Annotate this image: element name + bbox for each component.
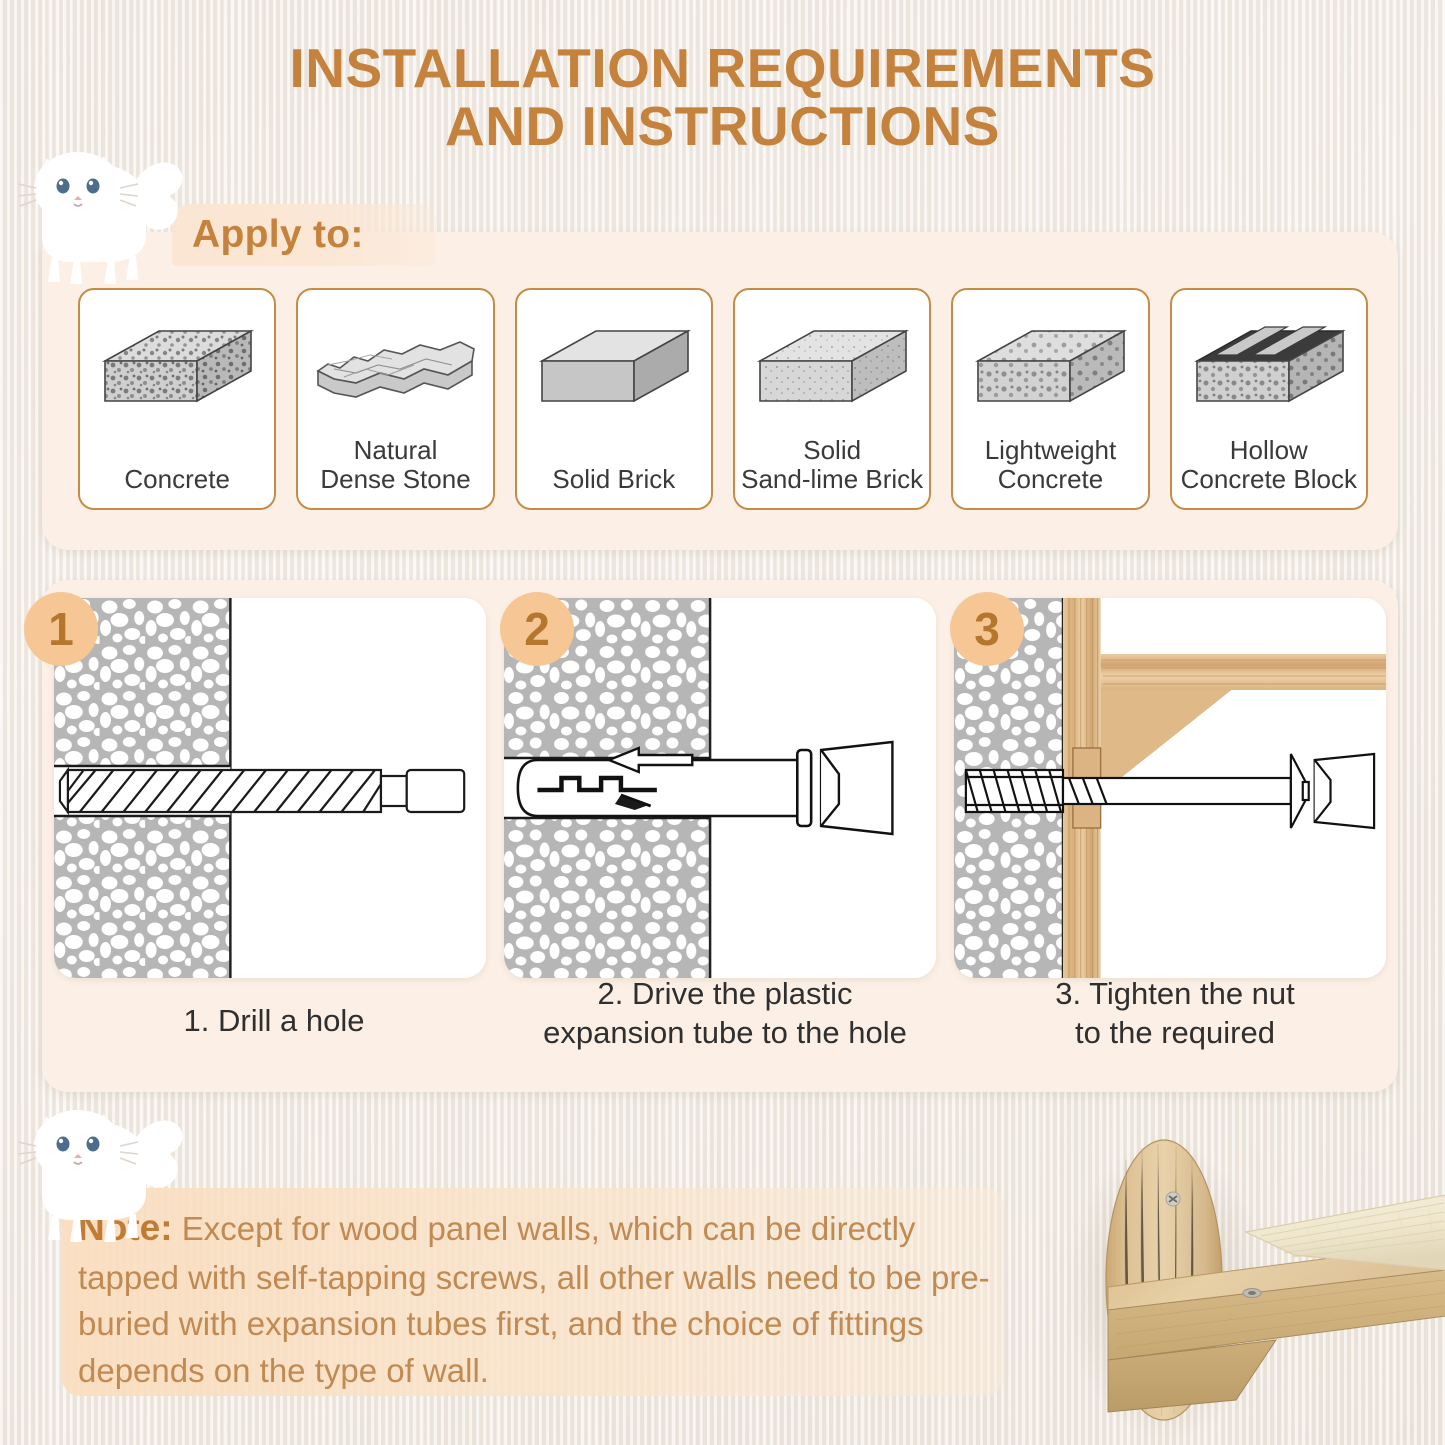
plastic-expansion-tube-icon [504, 598, 936, 978]
material-label: Concrete [84, 465, 270, 494]
wooden-wall-shelf-photo [1046, 1120, 1445, 1445]
lightweight-concrete-icon [953, 304, 1147, 424]
step-badge-1: 1 [24, 592, 98, 666]
step-caption-2: 2. Drive the plastic expansion tube to t… [470, 975, 980, 1053]
step-card-1[interactable] [54, 598, 486, 978]
step-badge-number: 2 [524, 602, 550, 656]
step-badge-2: 2 [500, 592, 574, 666]
page-title-line-2: AND INSTRUCTIONS [0, 98, 1445, 156]
white-cat-mascot-icon [12, 1098, 194, 1246]
material-label: Hollow Concrete Block [1176, 436, 1362, 494]
step-badge-number: 1 [48, 602, 74, 656]
material-card-list: Concrete Natural Dense Stone Solid Brick [78, 288, 1368, 510]
step-card-list [54, 598, 1386, 978]
step-card-2[interactable] [504, 598, 936, 978]
screw-through-wood-icon [954, 598, 1386, 978]
material-label: Lightweight Concrete [957, 436, 1143, 494]
material-label: Solid Sand-lime Brick [739, 436, 925, 494]
white-cat-mascot-icon [12, 140, 194, 288]
note-text: Note: Except for wood panel walls, which… [78, 1202, 1008, 1395]
hollow-concrete-block-icon [1172, 304, 1366, 424]
solid-brick-icon [517, 304, 711, 424]
sand-lime-brick-icon [735, 304, 929, 424]
step-caption-1: 1. Drill a hole [54, 1002, 494, 1041]
material-card-solid-brick[interactable]: Solid Brick [515, 288, 713, 510]
material-label: Solid Brick [521, 465, 707, 494]
step-badge-number: 3 [974, 602, 1000, 656]
material-card-solid-sand-lime-brick[interactable]: Solid Sand-lime Brick [733, 288, 931, 510]
natural-dense-stone-icon [298, 304, 492, 424]
material-card-natural-dense-stone[interactable]: Natural Dense Stone [296, 288, 494, 510]
note-body: Except for wood panel walls, which can b… [78, 1210, 990, 1389]
material-card-concrete[interactable]: Concrete [78, 288, 276, 510]
concrete-block-icon [80, 304, 274, 424]
apply-to-tab: Apply to: [172, 204, 436, 266]
step-badge-3: 3 [950, 592, 1024, 666]
step-card-3[interactable] [954, 598, 1386, 978]
material-card-lightweight-concrete[interactable]: Lightweight Concrete [951, 288, 1149, 510]
page-title-line-1: INSTALLATION REQUIREMENTS [290, 37, 1156, 99]
page-title: INSTALLATION REQUIREMENTS AND INSTRUCTIO… [0, 40, 1445, 156]
step-caption-3: 3. Tighten the nut to the required [955, 975, 1395, 1053]
drill-bit-in-concrete-icon [54, 598, 486, 978]
apply-to-label: Apply to: [172, 213, 364, 257]
material-card-hollow-concrete-block[interactable]: Hollow Concrete Block [1170, 288, 1368, 510]
material-label: Natural Dense Stone [302, 436, 488, 494]
